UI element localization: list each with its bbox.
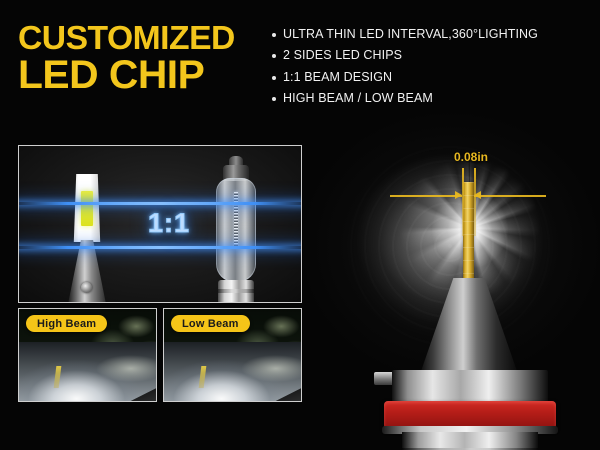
bulb-barrel xyxy=(402,432,538,450)
led-bulb-screw-icon xyxy=(81,282,92,293)
halogen-bulb-base xyxy=(218,280,254,303)
feature-list: ULTRA THIN LED INTERVAL,360°LIGHTING 2 S… xyxy=(272,27,594,112)
low-beam-photo: Low Beam xyxy=(163,308,302,402)
halogen-filament xyxy=(234,192,238,248)
feature-text: HIGH BEAM / LOW BEAM xyxy=(283,91,433,106)
bulb-cone-housing xyxy=(420,278,518,374)
feature-text: ULTRA THIN LED INTERVAL,360°LIGHTING xyxy=(283,27,538,42)
bulb-flange xyxy=(392,370,548,402)
list-item: 2 SIDES LED CHIPS xyxy=(272,48,594,63)
high-beam-badge: High Beam xyxy=(26,315,107,332)
list-item: HIGH BEAM / LOW BEAM xyxy=(272,91,594,106)
dimension-extension-line xyxy=(474,168,476,236)
road-shoulder xyxy=(93,353,156,384)
alignment-line-bottom xyxy=(18,246,302,249)
bullet-dot-icon xyxy=(272,76,276,80)
dimension-label: 0.08in xyxy=(436,150,506,164)
led-bulb-body xyxy=(68,240,106,303)
low-beam-badge: Low Beam xyxy=(171,315,250,332)
dimension-arm-right xyxy=(474,195,546,197)
road-shoulder xyxy=(238,353,301,384)
led-bulb-illustration xyxy=(65,174,109,303)
high-beam-photo: High Beam xyxy=(18,308,157,402)
feature-text: 2 SIDES LED CHIPS xyxy=(283,48,402,63)
list-item: 1:1 BEAM DESIGN xyxy=(272,70,594,85)
alignment-line-top xyxy=(18,202,302,205)
dimension-arm-left xyxy=(390,195,462,197)
feature-text: 1:1 BEAM DESIGN xyxy=(283,70,392,85)
list-item: ULTRA THIN LED INTERVAL,360°LIGHTING xyxy=(272,27,594,42)
halogen-bulb-illustration xyxy=(207,156,265,303)
led-chip-element xyxy=(81,191,93,226)
beam-comparison-row: High Beam Low Beam xyxy=(18,308,302,402)
red-gasket-ring xyxy=(384,401,556,429)
dimension-arrowhead-right-icon xyxy=(474,191,481,199)
page-title: CUSTOMIZED LED CHIP xyxy=(18,22,273,94)
title-line-1: CUSTOMIZED xyxy=(18,22,278,53)
product-infographic: CUSTOMIZED LED CHIP ULTRA THIN LED INTER… xyxy=(0,0,600,450)
title-line-2: LED CHIP xyxy=(18,56,278,94)
bullet-dot-icon xyxy=(272,97,276,101)
bulb-comparison-panel: 1:1 xyxy=(18,145,302,303)
ratio-label: 1:1 xyxy=(137,208,201,239)
dimension-extension-line xyxy=(462,168,464,236)
dimension-arrowhead-left-icon xyxy=(455,191,462,199)
bullet-dot-icon xyxy=(272,33,276,37)
bullet-dot-icon xyxy=(272,54,276,58)
product-bulb-photo: 0.08in xyxy=(340,120,600,450)
